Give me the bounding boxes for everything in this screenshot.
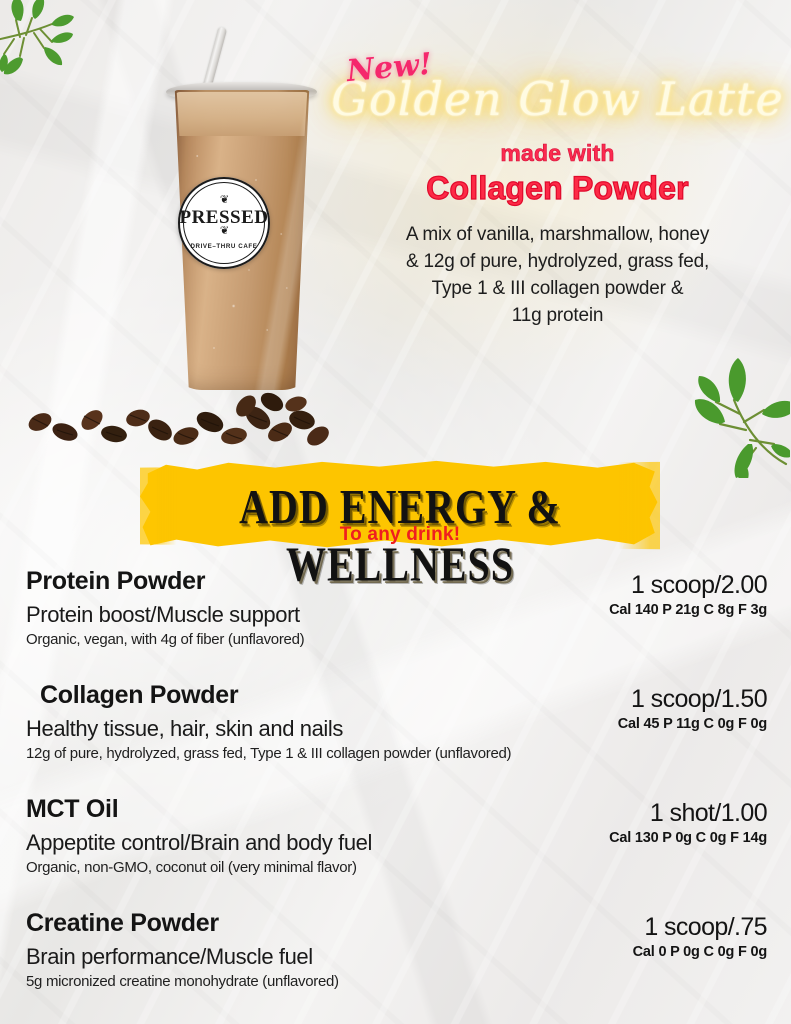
coffee-beans-image bbox=[10, 360, 330, 450]
menu-item-macros: Cal 140 P 21g C 8g F 3g bbox=[609, 602, 767, 618]
menu-item-creatine-powder[interactable]: Creatine Powder Brain performance/Muscle… bbox=[0, 908, 791, 1022]
menu-item-price-block: 1 scoop/1.50 Cal 45 P 11g C 0g F 0g bbox=[618, 684, 767, 732]
menu-item-price-block: 1 scoop/2.00 Cal 140 P 21g C 8g F 3g bbox=[609, 570, 767, 618]
menu-item-detail: 12g of pure, hydrolyzed, grass fed, Type… bbox=[26, 744, 765, 764]
menu-item-macros: Cal 130 P 0g C 0g F 14g bbox=[609, 830, 767, 846]
hero-description: A mix of vanilla, marshmallow, honey & 1… bbox=[330, 221, 785, 329]
menu-item-macros: Cal 45 P 11g C 0g F 0g bbox=[618, 716, 767, 732]
pressed-logo: ❦ PRESSED ❦ DRIVE–THRU CAFE bbox=[178, 177, 270, 269]
menu-item-size-price: 1 scoop/1.50 bbox=[618, 684, 767, 714]
menu-item-collagen-powder[interactable]: Collagen Powder Healthy tissue, hair, sk… bbox=[0, 680, 791, 794]
hero-description-line: Type 1 & III collagen powder & bbox=[330, 275, 785, 302]
banner-subtitle: To any drink! bbox=[140, 524, 660, 546]
hero-header: New! Golden Glow Latte made with Collage… bbox=[330, 36, 785, 329]
hero-description-line: A mix of vanilla, marshmallow, honey bbox=[330, 221, 785, 248]
logo-flourish-top: ❦ bbox=[220, 197, 228, 208]
made-with-value: Collagen Powder bbox=[330, 170, 785, 207]
menu-item-size-price: 1 scoop/.75 bbox=[633, 912, 767, 942]
menu-item-price-block: 1 shot/1.00 Cal 130 P 0g C 0g F 14g bbox=[609, 798, 767, 846]
made-with-label: made with bbox=[330, 140, 785, 167]
menu-item-size-price: 1 scoop/2.00 bbox=[609, 570, 767, 600]
leaf-sprig-bottom-icon bbox=[686, 352, 790, 478]
menu-item-mct-oil[interactable]: MCT Oil Appeptite control/Brain and body… bbox=[0, 794, 791, 908]
hero-description-line: & 12g of pure, hydrolyzed, grass fed, bbox=[330, 248, 785, 275]
hero-description-line: 11g protein bbox=[330, 302, 785, 329]
addons-menu-list: Protein Powder Protein boost/Muscle supp… bbox=[0, 566, 791, 1022]
section-banner: ADD ENERGY & WELLNESS To any drink! bbox=[140, 458, 660, 554]
menu-item-detail: 5g micronized creatine monohydrate (unfl… bbox=[26, 972, 765, 992]
poster-root: ❦ PRESSED ❦ DRIVE–THRU CAFE bbox=[0, 0, 791, 1024]
logo-tagline: DRIVE–THRU CAFE bbox=[190, 243, 257, 250]
menu-item-size-price: 1 shot/1.00 bbox=[609, 798, 767, 828]
menu-item-price-block: 1 scoop/.75 Cal 0 P 0g C 0g F 0g bbox=[633, 912, 767, 960]
menu-item-detail: Organic, non-GMO, coconut oil (very mini… bbox=[26, 858, 765, 878]
logo-flourish-bottom: ❦ bbox=[220, 228, 228, 239]
menu-item-protein-powder[interactable]: Protein Powder Protein boost/Muscle supp… bbox=[0, 566, 791, 680]
leaf-sprig-icon bbox=[0, 0, 90, 92]
menu-item-macros: Cal 0 P 0g C 0g F 0g bbox=[633, 944, 767, 960]
menu-item-detail: Organic, vegan, with 4g of fiber (unflav… bbox=[26, 630, 765, 650]
